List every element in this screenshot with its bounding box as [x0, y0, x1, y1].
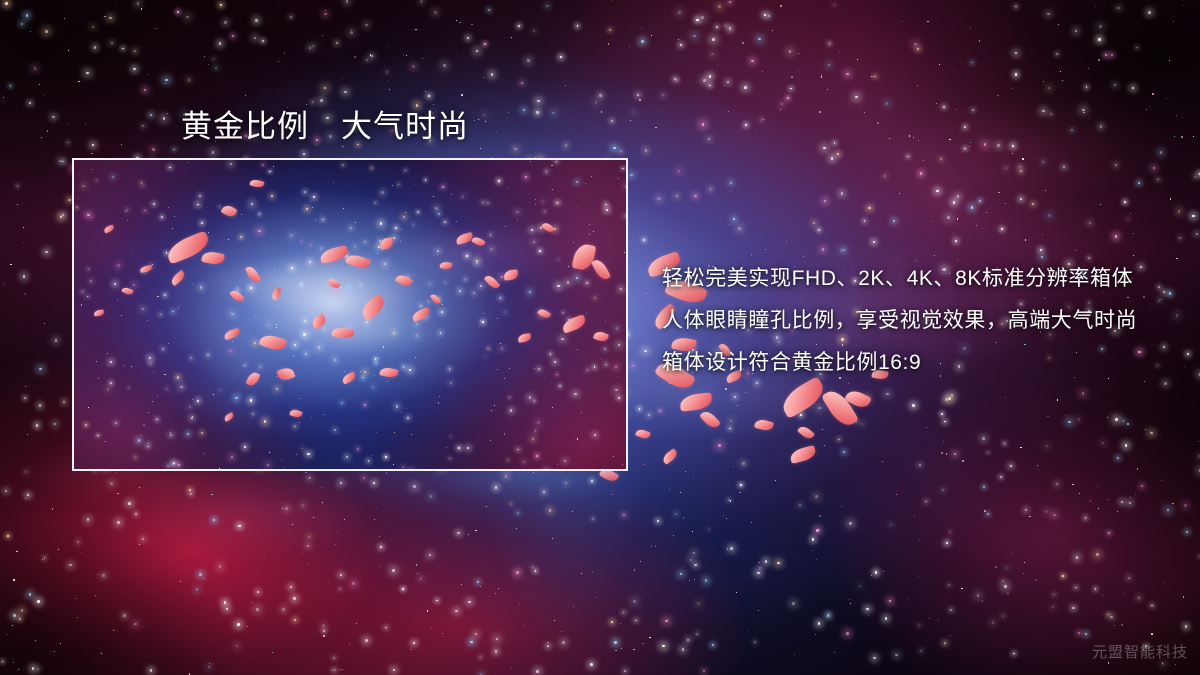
description-line-3: 箱体设计符合黄金比例16:9: [662, 342, 1162, 384]
petal-shape: [635, 428, 651, 441]
product-image-frame: [72, 158, 628, 471]
petal-shape: [679, 392, 712, 411]
petal-shape: [821, 386, 859, 431]
feature-description: 轻松完美实现FHD、2K、4K、8K标准分辨率箱体 人体眼睛瞳孔比例，享受视觉效…: [662, 258, 1162, 384]
slide-canvas: 黄金比例 大气时尚 轻松完美实现FHD、2K、4K、8K标准分辨率箱体 人体眼睛…: [0, 0, 1200, 675]
description-line-2: 人体眼睛瞳孔比例，享受视觉效果，高端大气时尚: [662, 300, 1162, 342]
company-watermark: 元盟智能科技: [1092, 641, 1188, 662]
slide-title: 黄金比例 大气时尚: [181, 101, 469, 146]
petal-shape: [844, 387, 872, 411]
description-line-1: 轻松完美实现FHD、2K、4K、8K标准分辨率箱体: [662, 258, 1162, 300]
panel-wisp-layer: [74, 160, 626, 469]
product-image: [74, 160, 626, 469]
petal-shape: [789, 445, 817, 464]
petal-shape: [699, 408, 721, 430]
petal-shape: [754, 418, 774, 433]
petal-shape: [661, 448, 679, 465]
petal-shape: [797, 424, 815, 441]
